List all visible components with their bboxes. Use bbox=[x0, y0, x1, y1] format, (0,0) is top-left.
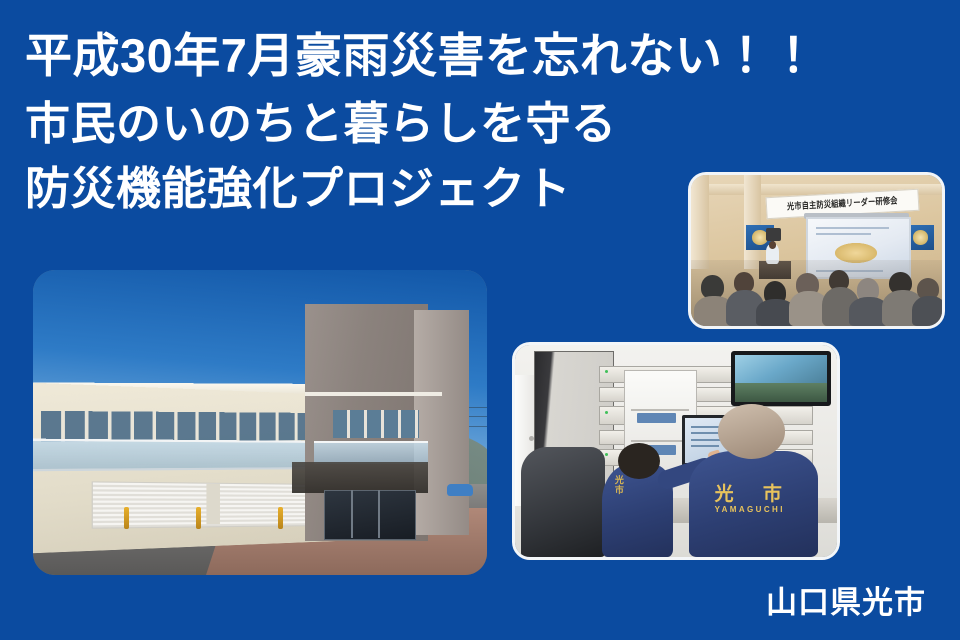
entrance-canopy-shadow bbox=[292, 462, 428, 493]
building-tower-trim bbox=[305, 392, 441, 396]
photo-disaster-prevention-building bbox=[33, 270, 487, 575]
operator-female-head bbox=[618, 443, 660, 479]
audience-shoulder-8 bbox=[912, 296, 942, 326]
wall-mounted-monitor bbox=[731, 351, 831, 406]
photo-leader-training-seminar: 光市自主防災組織リーダー研修会 bbox=[688, 172, 945, 329]
slide-line-2 bbox=[816, 233, 870, 235]
hall-column-2 bbox=[691, 175, 709, 269]
parked-car bbox=[447, 484, 473, 496]
monitor-camera-feed bbox=[735, 383, 827, 403]
operator-chair bbox=[521, 447, 605, 557]
building-tower-side-face bbox=[414, 310, 468, 536]
entrance-mullion-1 bbox=[351, 490, 353, 539]
photo-disaster-control-room: 光市 光 市 YAMAGUCHI bbox=[512, 342, 840, 560]
poster-canvas: 平成30年7月豪雨災害を忘れない！！ 市民のいのちと暮らしを守る 防災機能強化プ… bbox=[0, 0, 960, 640]
building-tower-windows bbox=[333, 410, 419, 437]
bollard-1 bbox=[124, 507, 129, 529]
wall-speaker bbox=[766, 228, 781, 242]
cabinet-box-1 bbox=[637, 413, 676, 424]
slide-line-1 bbox=[816, 227, 888, 229]
uniform-kanji-label: 光 市 bbox=[715, 485, 794, 504]
seminar-scene: 光市自主防災組織リーダー研修会 bbox=[691, 175, 942, 326]
control-room-scene: 光市 光 市 YAMAGUCHI bbox=[515, 345, 837, 557]
uniform-roman-label: YAMAGUCHI bbox=[715, 506, 785, 514]
monitor-data-row-4 bbox=[691, 445, 720, 447]
bollard-3 bbox=[278, 507, 283, 529]
page-title-line-2: 市民のいのちと暮らしを守る bbox=[25, 91, 935, 157]
building-scene bbox=[33, 270, 487, 575]
building-glass-balcony bbox=[33, 438, 333, 471]
building-tower-balcony bbox=[314, 441, 428, 464]
rack-status-led-2 bbox=[605, 411, 608, 414]
building-main-entrance bbox=[324, 490, 417, 541]
operator-female-uniform-kanji: 光市 bbox=[615, 476, 624, 495]
seminar-banner-text: 光市自主防災組織リーダー研修会 bbox=[787, 195, 898, 214]
entrance-mullion-2 bbox=[378, 490, 380, 539]
flag-emblem-right bbox=[913, 230, 928, 244]
bollard-2 bbox=[196, 507, 201, 529]
cabinet-shelf-1 bbox=[631, 409, 689, 411]
page-title-line-1: 平成30年7月豪雨災害を忘れない！！ bbox=[25, 22, 935, 91]
city-name-label: 山口県光市 bbox=[766, 587, 926, 618]
organization-flag-right bbox=[907, 225, 935, 251]
shutter-divider bbox=[206, 483, 219, 523]
hall-column-1 bbox=[744, 175, 762, 269]
